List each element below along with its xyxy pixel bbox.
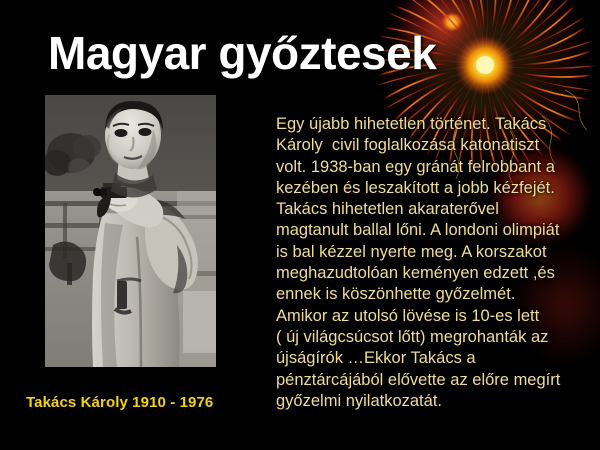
body-line: Takács hihetetlen akaraterővel — [276, 199, 588, 220]
presentation-slide: Magyar győztesek — [0, 0, 600, 450]
body-line: is bal kézzel nyerte meg. A korszakot — [276, 242, 588, 263]
body-line: ( új világcsúcsot lőtt) megrohanták az — [276, 327, 588, 348]
body-line: pénztárcájából elővette az előre megírt — [276, 370, 588, 391]
page-title: Magyar győztesek — [48, 30, 436, 76]
body-line: Amikor az utolsó lövése is 10-es lett — [276, 306, 588, 327]
firework-spark-icon — [441, 14, 463, 30]
photo-caption: Takács Károly 1910 - 1976 — [26, 394, 213, 411]
body-line: magtanult ballal lőni. A londoni olimpiá… — [276, 220, 588, 241]
body-line: meghazudtolóan keményen edzett ,és — [276, 263, 588, 284]
body-line: győzelmi nyilatkozatát. — [276, 391, 588, 412]
body-line: volt. 1938-ban egy gránát felrobbant a — [276, 157, 588, 178]
body-line: kezében és leszakított a jobb kézfejét. — [276, 178, 588, 199]
body-text-block: Egy újabb hihetetlen történet. Takács Ká… — [276, 114, 588, 412]
body-line: újságírók …Ekkor Takács a — [276, 348, 588, 369]
body-line: Károly civil foglalkozása katonatiszt — [276, 135, 588, 156]
body-line: Egy újabb hihetetlen történet. Takács — [276, 114, 588, 135]
body-line: ennek is köszönhette győzelmét. — [276, 284, 588, 305]
karoly-takacs-photo — [45, 95, 216, 367]
